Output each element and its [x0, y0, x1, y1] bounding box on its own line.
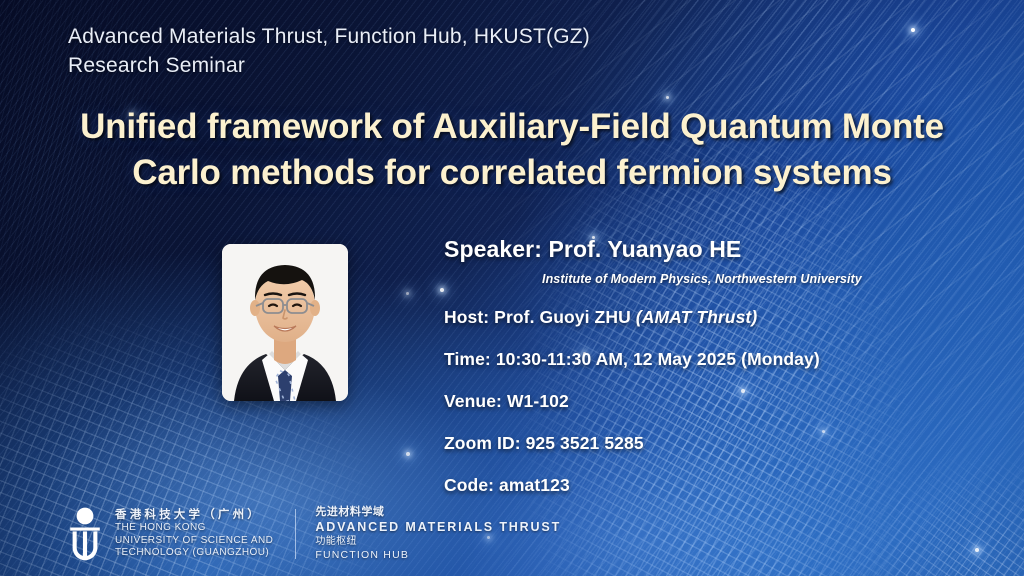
venue-line: Venue: W1-102 — [444, 391, 964, 412]
time-line: Time: 10:30-11:30 AM, 12 May 2025 (Monda… — [444, 349, 964, 370]
page-title: Unified framework of Auxiliary-Field Qua… — [0, 104, 1024, 196]
speaker-name: Speaker: Prof. Yuanyao HE — [444, 236, 964, 263]
host-affiliation: (AMAT Thrust) — [636, 307, 758, 327]
function-hub-english: FUNCTION HUB — [315, 548, 561, 562]
footer-logos: 香港科技大学（广州） THE HONG KONG UNIVERSITY OF S… — [64, 505, 561, 562]
portrait-illustration — [222, 244, 348, 401]
zoom-id-line: Zoom ID: 925 3521 5285 — [444, 433, 964, 454]
seminar-series-header: Advanced Materials Thrust, Function Hub,… — [68, 22, 590, 80]
seminar-poster: Advanced Materials Thrust, Function Hub,… — [0, 0, 1024, 576]
amat-name-chinese: 先进材料学域 — [315, 505, 561, 519]
seminar-info: Speaker: Prof. Yuanyao HE Institute of M… — [444, 236, 964, 496]
function-hub-chinese: 功能枢纽 — [315, 535, 561, 548]
speaker-photo — [222, 244, 348, 401]
host-label: Host: Prof. Guoyi ZHU — [444, 307, 636, 327]
hkust-name-chinese: 香港科技大学（广州） — [115, 507, 273, 522]
footer-divider — [295, 509, 296, 559]
hkust-logo-text: 香港科技大学（广州） THE HONG KONG UNIVERSITY OF S… — [115, 507, 273, 560]
amat-thrust-logo: 先进材料学域 ADVANCED MATERIALS THRUST 功能枢纽 FU… — [315, 505, 561, 562]
amat-name-english: ADVANCED MATERIALS THRUST — [315, 519, 561, 535]
hkust-name-english: THE HONG KONG UNIVERSITY OF SCIENCE AND … — [115, 522, 273, 560]
code-line: Code: amat123 — [444, 475, 964, 496]
hkust-emblem-shape — [64, 506, 106, 562]
host-line: Host: Prof. Guoyi ZHU (AMAT Thrust) — [444, 307, 964, 328]
speaker-affiliation: Institute of Modern Physics, Northwester… — [444, 272, 964, 286]
hkust-emblem-icon — [64, 506, 106, 562]
hkust-gz-logo: 香港科技大学（广州） THE HONG KONG UNIVERSITY OF S… — [64, 506, 273, 562]
